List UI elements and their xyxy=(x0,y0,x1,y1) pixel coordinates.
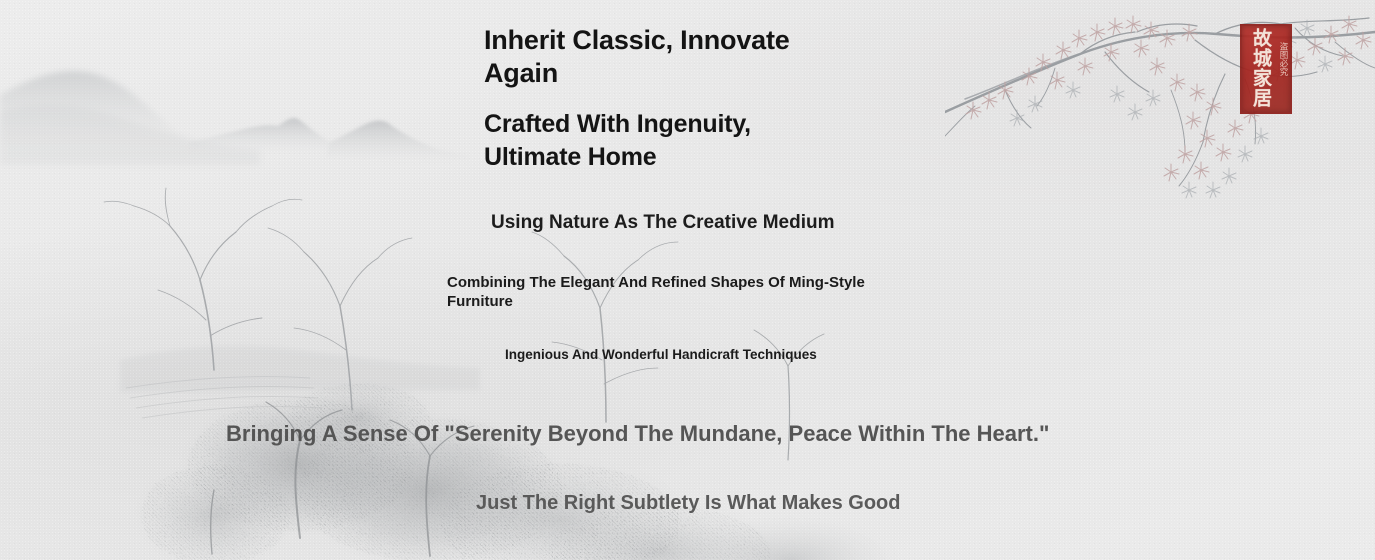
quote-subtlety: Just The Right Subtlety Is What Makes Go… xyxy=(476,490,900,516)
subheading-ming-style: Combining The Elegant And Refined Shapes… xyxy=(447,273,877,311)
headline-secondary: Crafted With Ingenuity, Ultimate Home xyxy=(484,108,844,174)
brand-seal-stamp[interactable]: 故城家居 盗图必究 xyxy=(1240,24,1292,114)
quote-serenity: Bringing A Sense Of "Serenity Beyond The… xyxy=(226,420,1049,448)
subheading-nature-medium: Using Nature As The Creative Medium xyxy=(491,210,834,236)
seal-side-text: 盗图必究 xyxy=(1276,42,1288,88)
poster-canvas: 故城家居 盗图必究 Inherit Classic, Innovate Agai… xyxy=(0,0,1375,560)
headline-primary: Inherit Classic, Innovate Again xyxy=(484,24,844,90)
mist-mountains-artwork xyxy=(0,0,470,230)
subheading-handicraft: Ingenious And Wonderful Handicraft Techn… xyxy=(505,346,835,364)
maple-branch-artwork xyxy=(945,0,1375,204)
seal-main-text: 故城家居 xyxy=(1243,28,1271,110)
